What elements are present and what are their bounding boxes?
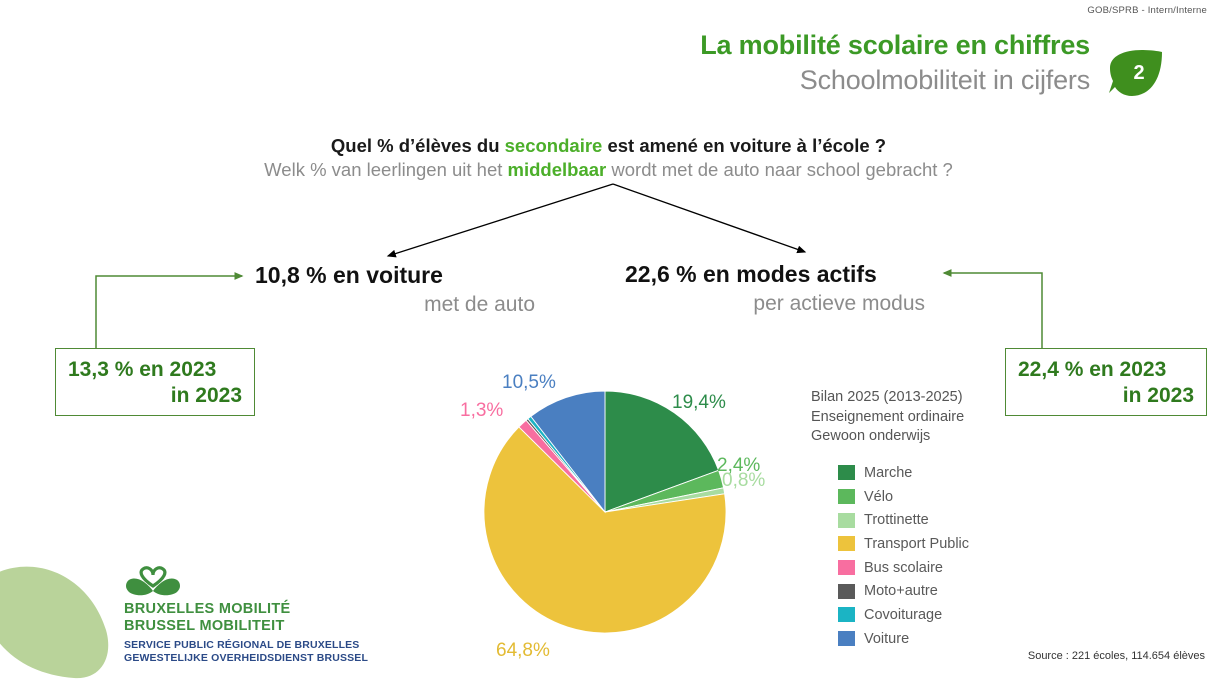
page-title-fr: La mobilité scolaire en chiffres bbox=[690, 30, 1090, 61]
logo-sub-nl: GEWESTELIJKE OVERHEIDSDIENST BRUSSEL bbox=[124, 652, 368, 665]
legend-swatch-icon bbox=[838, 584, 855, 599]
stat-active-modes: 22,6 % en modes actifs per actieve modus bbox=[625, 261, 925, 317]
legend-item-marche[interactable]: Marche bbox=[838, 461, 969, 485]
connector-left bbox=[60, 268, 260, 353]
legend-item-bus-scolaire[interactable]: Bus scolaire bbox=[838, 556, 969, 580]
legend-swatch-icon bbox=[838, 631, 855, 646]
legend-header: Bilan 2025 (2013-2025) Enseignement ordi… bbox=[811, 388, 964, 447]
stat-active-modes-fr: 22,6 % en modes actifs bbox=[625, 261, 925, 287]
logo-sub-fr: SERVICE PUBLIC RÉGIONAL DE BRUXELLES bbox=[124, 639, 368, 652]
pie-label-4: 1,3% bbox=[460, 400, 503, 422]
question-nl: Welk % van leerlingen uit het middelbaar… bbox=[0, 159, 1217, 181]
legend-header-line3: Gewoon onderwijs bbox=[811, 427, 964, 447]
legend-item-transport-public[interactable]: Transport Public bbox=[838, 532, 969, 556]
stat-car-fr: 10,8 % en voiture bbox=[255, 262, 555, 288]
legend-swatch-icon bbox=[838, 607, 855, 622]
question-fr-highlight: secondaire bbox=[505, 135, 603, 156]
chart-legend: MarcheVéloTrottinetteTransport PublicBus… bbox=[838, 461, 969, 651]
slide-canvas: GOB/SPRB - Intern/Interne La mobilité sc… bbox=[0, 0, 1217, 684]
legend-header-line1: Bilan 2025 (2013-2025) bbox=[811, 388, 964, 408]
legend-item-moto-autre[interactable]: Moto+autre bbox=[838, 579, 969, 603]
stat-box-2023-active: 22,4 % en 2023 in 2023 bbox=[1005, 348, 1207, 416]
legend-label: Trottinette bbox=[864, 512, 929, 528]
page-title-nl: Schoolmobiliteit in cijfers bbox=[690, 64, 1090, 96]
page-number-badge: 2 bbox=[1108, 48, 1164, 98]
decorative-leaf-shape bbox=[0, 558, 117, 684]
pie-label-3: 64,8% bbox=[496, 640, 550, 662]
question-fr-after: est amené en voiture à l’école ? bbox=[602, 135, 886, 156]
pie-label-0: 19,4% bbox=[672, 392, 726, 414]
stat-box-active-line1: 22,4 % en 2023 bbox=[1018, 357, 1194, 383]
question-nl-highlight: middelbaar bbox=[508, 159, 607, 180]
stat-car-nl: met de auto bbox=[255, 292, 555, 317]
stat-box-2023-car: 13,3 % en 2023 in 2023 bbox=[55, 348, 255, 416]
question-nl-before: Welk % van leerlingen uit het bbox=[264, 159, 507, 180]
organisation-logo: BRUXELLES MOBILITÉ BRUSSEL MOBILITEIT SE… bbox=[124, 566, 368, 665]
arrow-to-right-stat bbox=[613, 184, 805, 252]
legend-label: Covoiturage bbox=[864, 607, 942, 623]
connector-right bbox=[930, 264, 1055, 354]
legend-label: Marche bbox=[864, 465, 912, 481]
stat-active-modes-nl: per actieve modus bbox=[625, 291, 925, 316]
legend-item-covoiturage[interactable]: Covoiturage bbox=[838, 603, 969, 627]
question-nl-after: wordt met de auto naar school gebracht ? bbox=[606, 159, 953, 180]
branch-arrows bbox=[360, 180, 830, 270]
legend-swatch-icon bbox=[838, 513, 855, 528]
legend-swatch-icon bbox=[838, 465, 855, 480]
stat-box-active-line2: in 2023 bbox=[1018, 383, 1194, 409]
question-fr: Quel % d’élèves du secondaire est amené … bbox=[0, 135, 1217, 157]
arrow-to-left-stat bbox=[388, 184, 613, 256]
legend-item-v-lo[interactable]: Vélo bbox=[838, 485, 969, 509]
legend-swatch-icon bbox=[838, 489, 855, 504]
pie-label-2: 0,8% bbox=[722, 470, 765, 492]
source-note: Source : 221 écoles, 114.654 élèves bbox=[1028, 650, 1205, 662]
pie-chart bbox=[470, 380, 745, 650]
legend-label: Bus scolaire bbox=[864, 560, 943, 576]
question-fr-before: Quel % d’élèves du bbox=[331, 135, 505, 156]
stat-box-car-line1: 13,3 % en 2023 bbox=[68, 357, 242, 383]
page-number-value: 2 bbox=[1108, 48, 1164, 98]
legend-label: Voiture bbox=[864, 631, 909, 647]
stat-box-car-line2: in 2023 bbox=[68, 383, 242, 409]
pie-label-5: 10,5% bbox=[502, 372, 556, 394]
logo-name-nl: BRUSSEL MOBILITEIT bbox=[124, 618, 368, 635]
legend-label: Transport Public bbox=[864, 536, 969, 552]
legend-label: Moto+autre bbox=[864, 583, 938, 599]
stat-car: 10,8 % en voiture met de auto bbox=[255, 262, 555, 318]
legend-swatch-icon bbox=[838, 560, 855, 575]
logo-name-fr: BRUXELLES MOBILITÉ bbox=[124, 601, 368, 618]
legend-item-voiture[interactable]: Voiture bbox=[838, 627, 969, 651]
legend-swatch-icon bbox=[838, 536, 855, 551]
header-titles: La mobilité scolaire en chiffres Schoolm… bbox=[690, 30, 1090, 96]
heart-leaf-logo-icon bbox=[124, 566, 182, 598]
legend-item-trottinette[interactable]: Trottinette bbox=[838, 508, 969, 532]
legend-header-line2: Enseignement ordinaire bbox=[811, 408, 964, 428]
legend-label: Vélo bbox=[864, 489, 893, 505]
confidentiality-marker: GOB/SPRB - Intern/Interne bbox=[1087, 5, 1207, 16]
